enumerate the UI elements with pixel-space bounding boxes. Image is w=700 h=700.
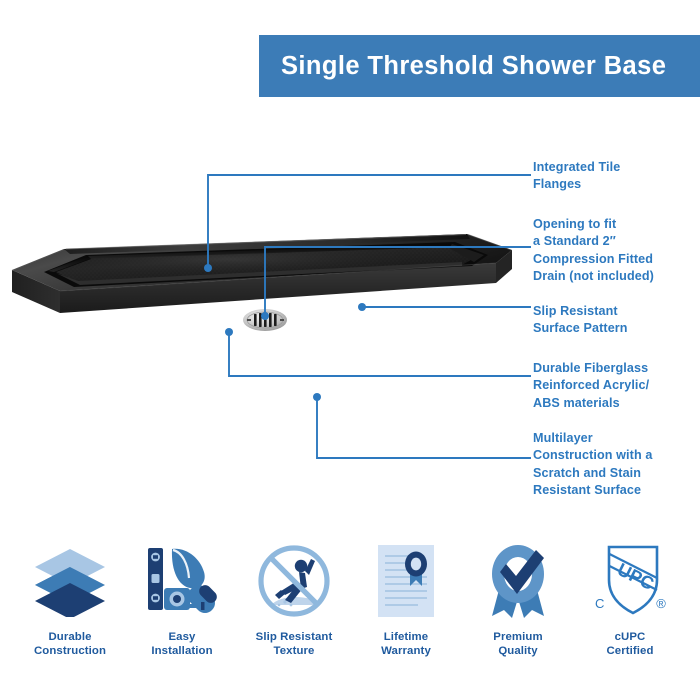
feature-easy-installation: Easy Installation xyxy=(126,540,238,659)
level-trowel-tape-icon xyxy=(142,540,222,622)
rosette-check-icon xyxy=(480,540,556,622)
feature-durable-construction: Durable Construction xyxy=(14,540,126,659)
no-slip-icon xyxy=(255,540,333,622)
upc-shield-icon: UPC C ® xyxy=(587,540,673,622)
page-title: Single Threshold Shower Base xyxy=(259,52,666,80)
feature-label: Easy Installation xyxy=(151,630,212,659)
feature-label: Durable Construction xyxy=(34,630,106,659)
feature-cupc-certified: UPC C ® cUPC Certified xyxy=(574,540,686,659)
callout-multilayer-construction: Multilayer Construction with a Scratch a… xyxy=(533,430,652,499)
feature-badges-row: Durable Construction xyxy=(0,540,700,680)
upc-right-mark: ® xyxy=(656,596,666,611)
feature-slip-resistant-texture: Slip Resistant Texture xyxy=(238,540,350,659)
callout-integrated-tile-flanges: Integrated Tile Flanges xyxy=(533,159,620,194)
feature-label: Lifetime Warranty xyxy=(381,630,431,659)
feature-premium-quality: Premium Quality xyxy=(462,540,574,659)
shower-base-body xyxy=(12,234,512,313)
header-banner: Single Threshold Shower Base xyxy=(259,35,700,97)
callout-slip-resistant-surface: Slip Resistant Surface Pattern xyxy=(533,303,628,338)
infographic-page: Single Threshold Shower Base xyxy=(0,0,700,700)
certificate-ribbon-icon xyxy=(370,540,442,622)
feature-label: Premium Quality xyxy=(493,630,542,659)
callout-durable-materials: Durable Fiberglass Reinforced Acrylic/ A… xyxy=(533,360,649,412)
feature-label: Slip Resistant Texture xyxy=(256,630,333,659)
upc-left-mark: C xyxy=(595,596,604,611)
feature-lifetime-warranty: Lifetime Warranty xyxy=(350,540,462,659)
feature-label: cUPC Certified xyxy=(606,630,653,659)
upc-badge-text: UPC xyxy=(614,559,657,594)
layers-stack-icon xyxy=(31,540,109,622)
callout-drain-opening: Opening to fit a Standard 2″ Compression… xyxy=(533,216,654,285)
